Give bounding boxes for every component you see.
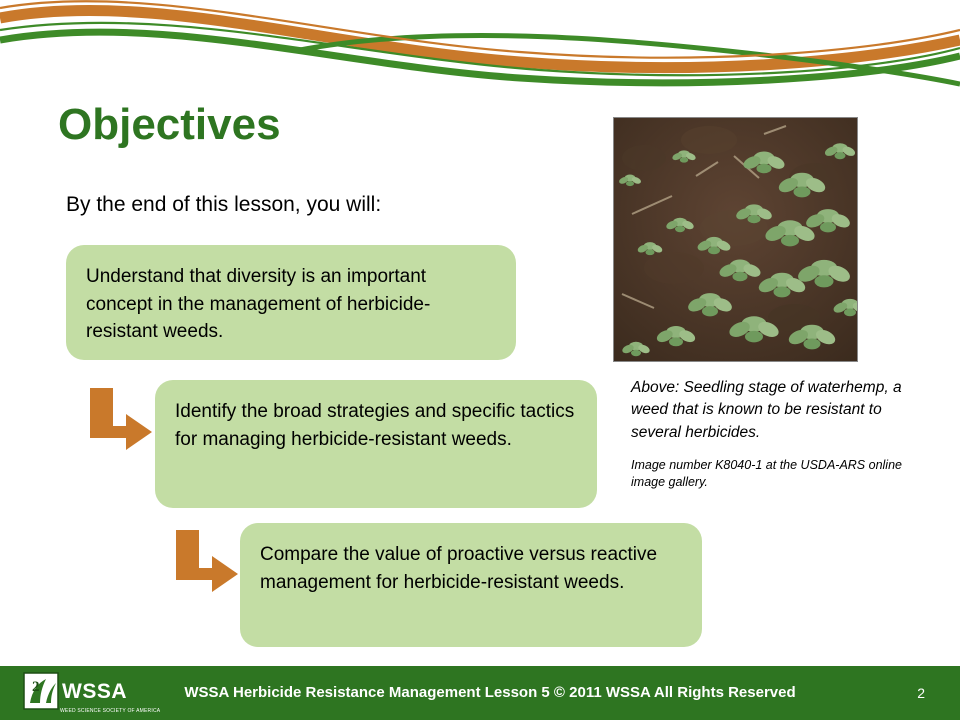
image-caption-credit: Image number K8040-1 at the USDA-ARS onl…: [631, 457, 931, 492]
objective-box-1: Understand that diversity is an importan…: [66, 245, 516, 360]
page-number: 2: [917, 666, 925, 720]
elbow-arrow-icon-2: [170, 528, 242, 600]
slide: Objectives By the end of this lesson, yo…: [0, 0, 960, 720]
wssa-logo-subtext: WEED SCIENCE SOCIETY OF AMERICA: [60, 708, 160, 714]
waterhemp-seedlings-photo: [613, 117, 858, 362]
svg-text:2: 2: [32, 679, 40, 695]
elbow-arrow-icon-1: [84, 386, 156, 458]
intro-text: By the end of this lesson, you will:: [66, 193, 381, 217]
image-caption-main: Above: Seedling stage of waterhemp, a we…: [631, 377, 931, 444]
wssa-logo-text: WSSA: [62, 680, 127, 704]
decorative-swoosh-graphic: [0, 0, 960, 100]
objective-box-3: Compare the value of proactive versus re…: [240, 523, 702, 647]
page-title: Objectives: [58, 100, 281, 150]
objective-box-2: Identify the broad strategies and specif…: [155, 380, 597, 508]
